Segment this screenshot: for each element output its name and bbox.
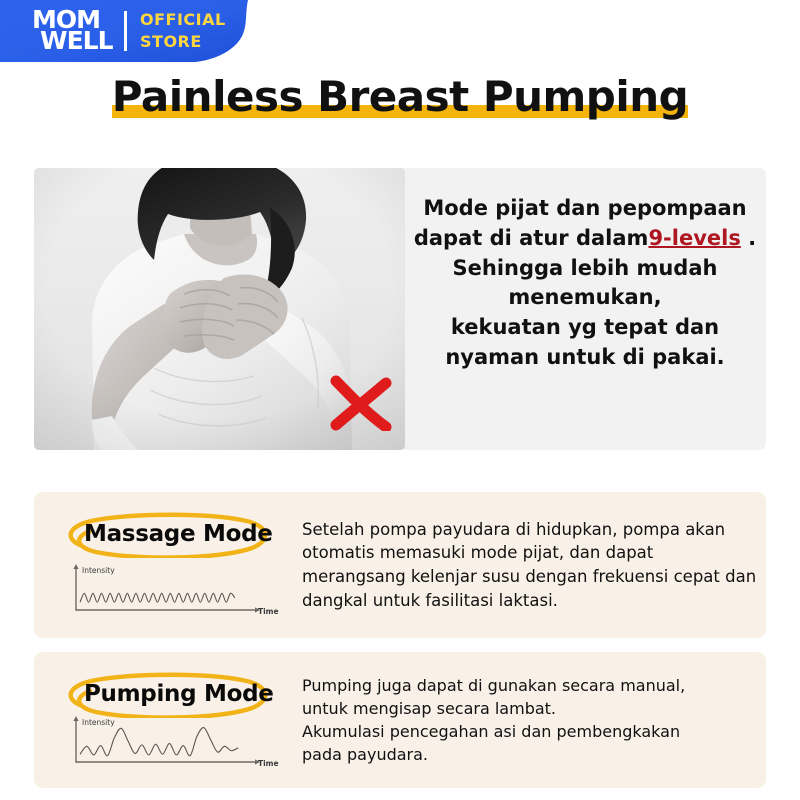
pumping-xlabel: Time (258, 759, 279, 768)
hero-line-5: kekuatan yg tepat dan (412, 313, 758, 343)
pumping-ylabel: Intensity (82, 718, 115, 727)
hero-line-2: dapat di atur dalam9-levels . (412, 224, 758, 254)
brand-divider (124, 11, 127, 51)
brand-wordmark: MOM WELL (0, 0, 136, 62)
levels-highlight: 9-levels (648, 226, 740, 250)
brand-name-line2: WELL (40, 28, 113, 53)
brand-banner: MOM WELL OFFICIAL STORE (0, 0, 272, 62)
pumping-mode-chart: Intensity Time (62, 714, 280, 772)
massage-xlabel: Time (258, 607, 279, 616)
massage-mode-left: Massage Mode Intensity Time (34, 492, 292, 638)
pumping-desc-line-2: untuk mengisap secara lambat. (302, 697, 760, 720)
badge-line2: STORE (140, 31, 226, 53)
pumping-mode-title: Pumping Mode (84, 681, 274, 707)
massage-waveform-chart: Intensity Time (62, 562, 280, 620)
hero-photo (34, 168, 405, 450)
pumping-mode-title-group: Pumping Mode (56, 672, 282, 718)
page-title: Painless Breast Pumping (0, 72, 800, 134)
massage-mode-chart: Intensity Time (62, 562, 280, 620)
pumping-mode-left: Pumping Mode Intensity Time (34, 652, 292, 788)
hero-line-3: Sehingga lebih mudah (412, 254, 758, 284)
massage-ylabel: Intensity (82, 566, 115, 575)
hero-line-2-post: . (741, 226, 756, 250)
pumping-desc-line-4: pada payudara. (302, 743, 760, 766)
hero-panel: Mode pijat dan pepompaan dapat di atur d… (34, 168, 766, 450)
official-store-badge: OFFICIAL STORE (140, 9, 226, 52)
massage-mode-card: Massage Mode Intensity Time Setelah pomp… (34, 492, 766, 638)
red-x-mark-icon (330, 375, 394, 431)
hero-line-2-pre: dapat di atur dalam (414, 226, 649, 250)
pumping-desc-line-3: Akumulasi pencegahan asi dan pembengkaka… (302, 720, 760, 743)
pumping-mode-description: Pumping juga dapat di gunakan secara man… (302, 674, 760, 766)
badge-line1: OFFICIAL (140, 9, 226, 31)
pumping-mode-right: Pumping juga dapat di gunakan secara man… (302, 652, 760, 788)
massage-mode-title-group: Massage Mode (56, 512, 282, 558)
hero-line-6: nyaman untuk di pakai. (412, 343, 758, 373)
title-text: Painless Breast Pumping (112, 72, 688, 122)
pumping-mode-card: Pumping Mode Intensity Time Pumping juga… (34, 652, 766, 788)
pumping-desc-line-1: Pumping juga dapat di gunakan secara man… (302, 674, 760, 697)
massage-mode-description: Setelah pompa payudara di hidupkan, pomp… (302, 518, 760, 613)
product-infographic-page: MOM WELL OFFICIAL STORE Painless Breast … (0, 0, 800, 800)
hero-description: Mode pijat dan pepompaan dapat di atur d… (412, 194, 758, 373)
massage-mode-title: Massage Mode (84, 521, 273, 547)
hero-line-4: menemukan, (412, 283, 758, 313)
massage-mode-right: Setelah pompa payudara di hidupkan, pomp… (302, 492, 760, 638)
pumping-waveform-chart: Intensity Time (62, 714, 280, 772)
hero-line-1: Mode pijat dan pepompaan (412, 194, 758, 224)
